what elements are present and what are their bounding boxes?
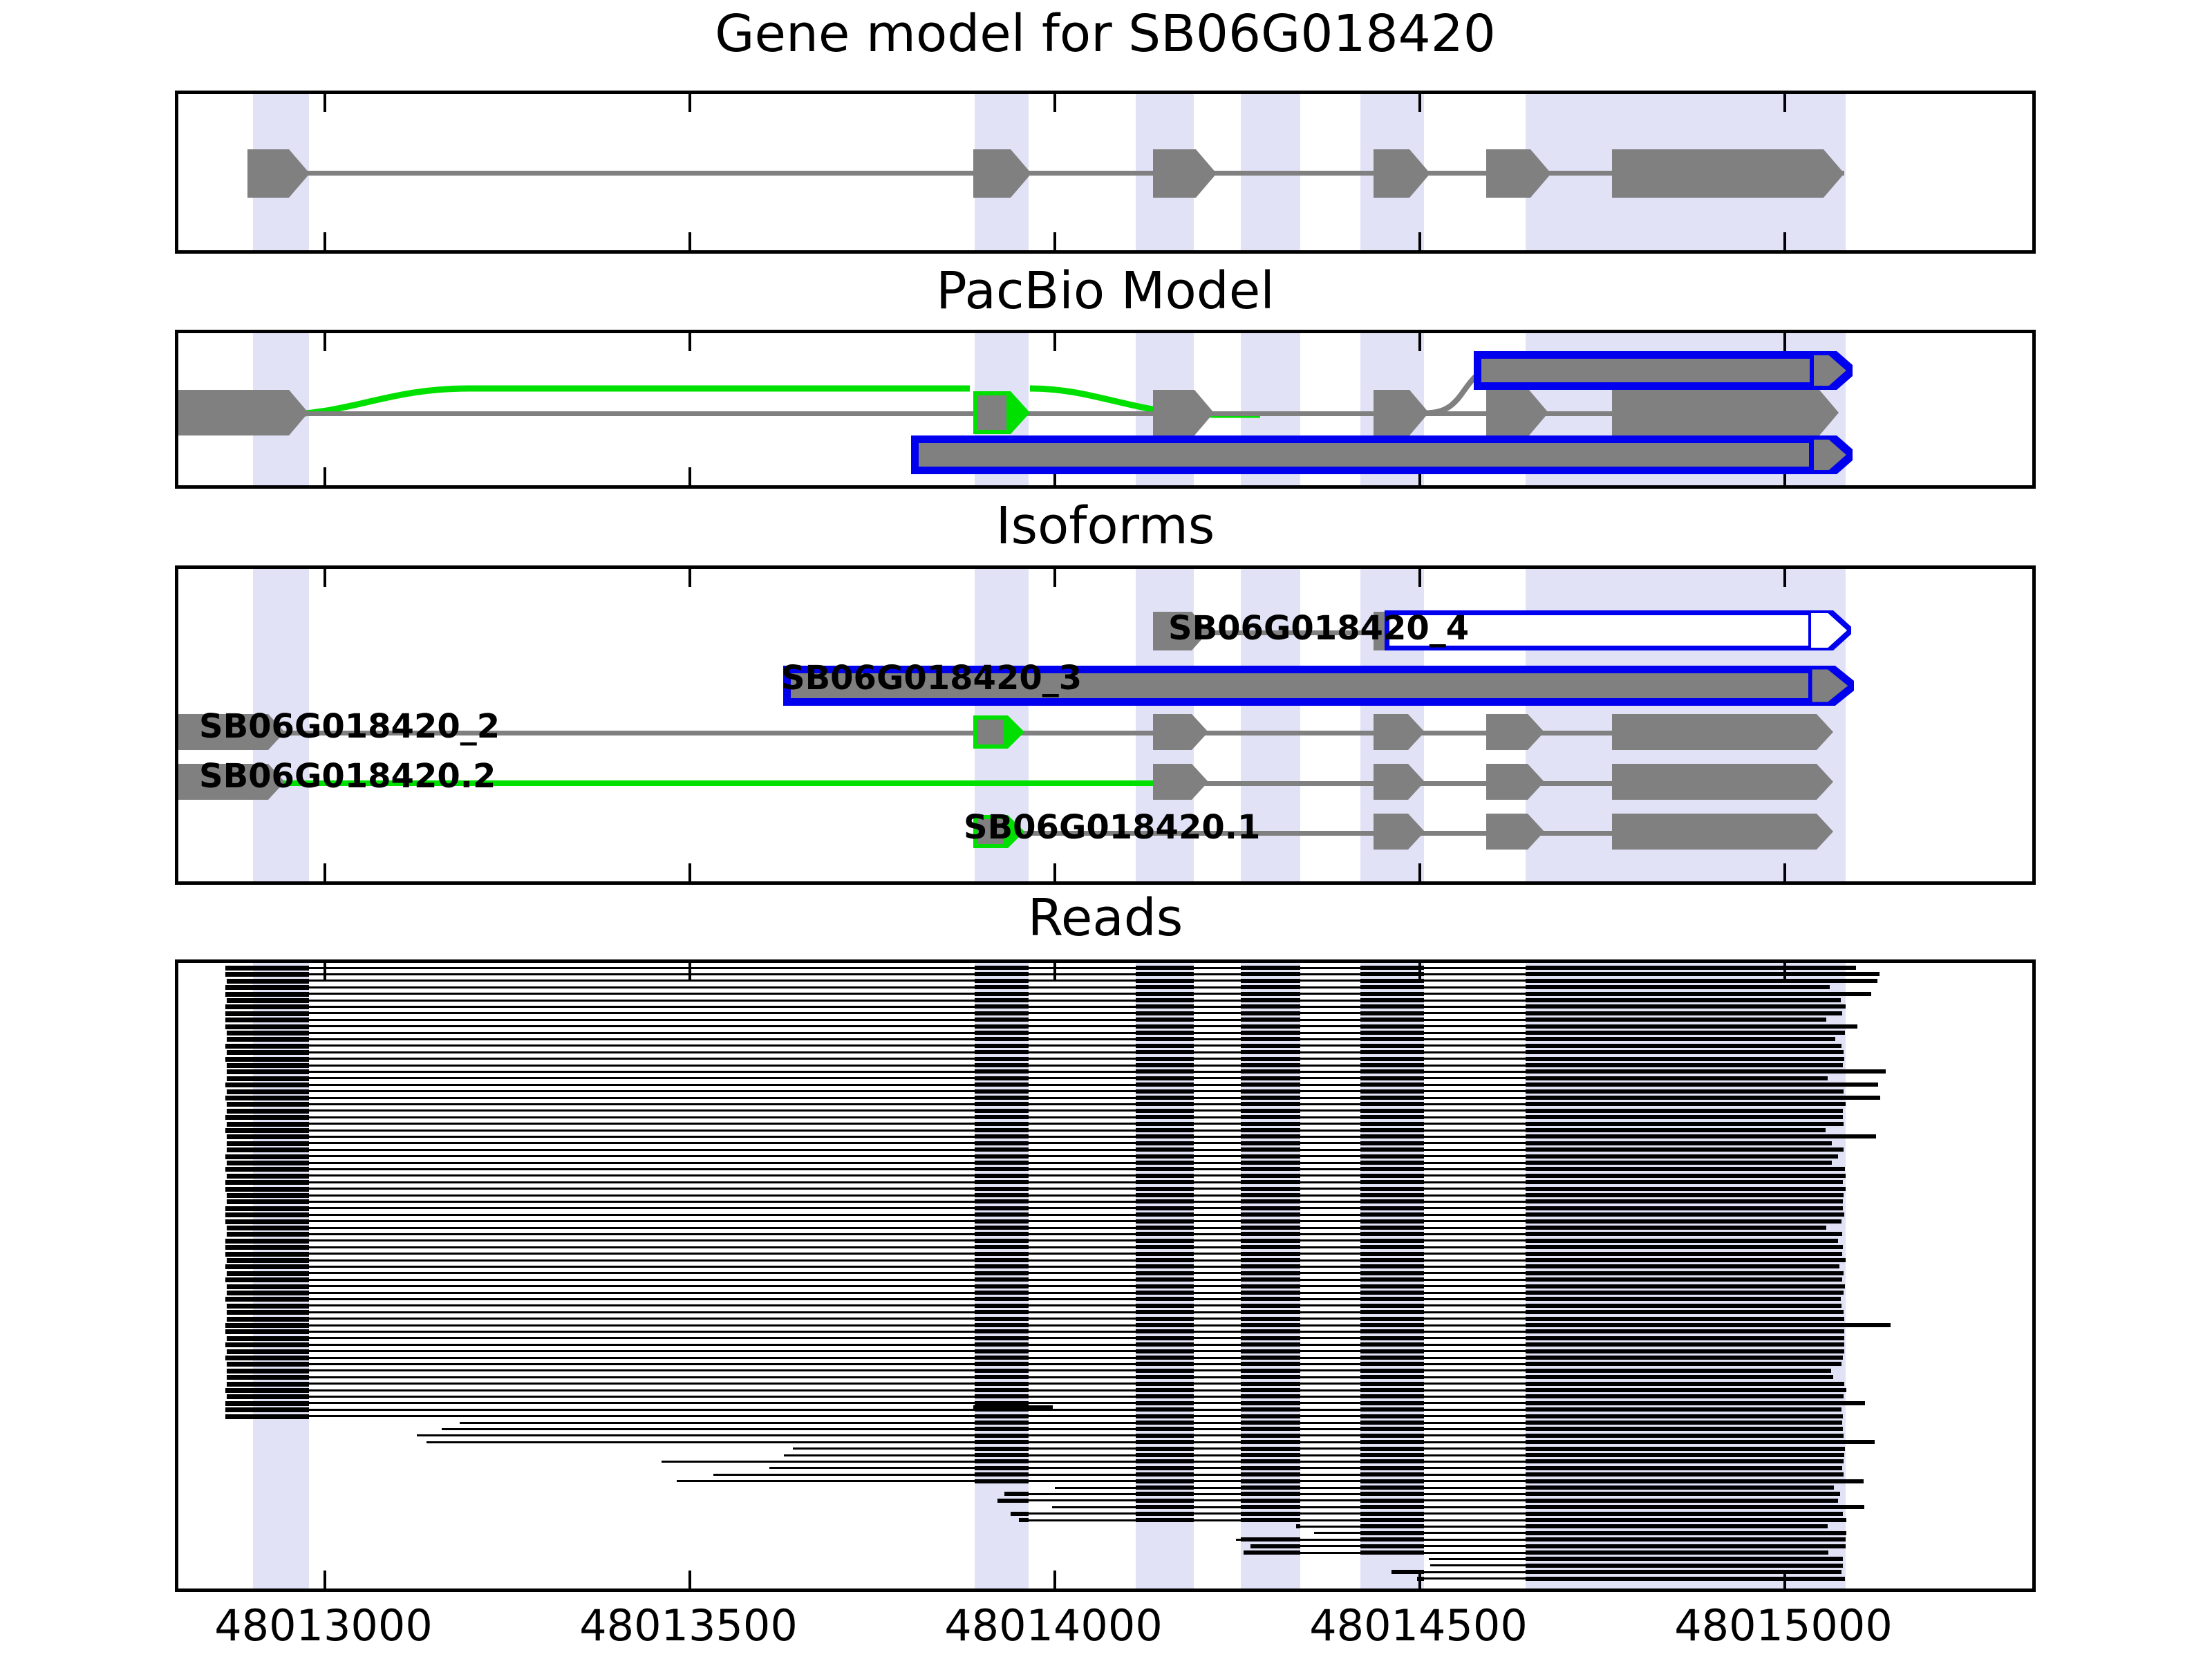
read-exon-block [225, 1024, 309, 1029]
read-exon-block [227, 1050, 309, 1055]
read-exon-block [225, 1388, 309, 1393]
read-exon-block [227, 1317, 309, 1322]
exon-block [1486, 149, 1530, 198]
read-exon-block [975, 1323, 1029, 1327]
read-exon-block [1360, 1161, 1424, 1165]
read-exon-block [1241, 1304, 1300, 1308]
axis-tick [688, 863, 691, 881]
read-exon-block [1136, 1239, 1194, 1243]
read-exon-block [1241, 1317, 1300, 1321]
read-exon-block [1526, 1291, 1844, 1295]
read-exon-block [1526, 1310, 1844, 1314]
read-exon-block [225, 985, 309, 990]
read-exon-block [1526, 1226, 1826, 1230]
read-exon-block [227, 1134, 309, 1139]
read-exon-block [1241, 1024, 1300, 1029]
read-exon-block [975, 1050, 1029, 1054]
pacbio-isoform-bar-partial[interactable] [1474, 351, 1817, 390]
read-exon-block [225, 1264, 309, 1269]
read-exon-block [975, 1317, 1029, 1321]
read-exon-block [1136, 1004, 1194, 1009]
read-exon-block [1136, 1252, 1194, 1256]
read-exon-block [1136, 1089, 1194, 1094]
panel-title-isoforms: Isoforms [175, 496, 2036, 556]
read-exon-block [1526, 1349, 1844, 1353]
read-exon-block [1526, 1524, 1828, 1528]
exon-block-green-outline [973, 391, 1011, 434]
read-exon-block [1526, 1499, 1838, 1503]
read-exon-block [1136, 1141, 1194, 1145]
read-exon-block [1136, 1109, 1194, 1113]
read-exon-block [1526, 1011, 1842, 1015]
read-exon-block [975, 1161, 1029, 1165]
read-exon-block [1136, 1317, 1194, 1321]
read-exon-block [1136, 1479, 1194, 1483]
read-exon-block [1360, 1472, 1424, 1477]
read-exon-block [227, 1304, 309, 1309]
read-exon-block [975, 1024, 1029, 1029]
read-exon-block [1526, 1401, 1865, 1405]
exon-block [1374, 390, 1409, 435]
read-exon-block [975, 1239, 1029, 1243]
read-alignment-stack [178, 963, 2032, 1588]
read-exon-block [975, 1459, 1029, 1463]
read-exon-block [975, 1167, 1029, 1171]
read-exon-block [1360, 1434, 1424, 1438]
read-exon-block [1241, 1472, 1300, 1477]
exon-block [178, 390, 289, 435]
read-exon-block [975, 1375, 1029, 1379]
axis-tick [1053, 569, 1056, 587]
read-exon-block [1360, 1037, 1424, 1041]
read-exon-block [1136, 1167, 1194, 1171]
exon-block [1153, 149, 1196, 198]
isoform-arrow-4 [1808, 610, 1851, 650]
read-exon-block [1241, 1141, 1300, 1145]
read-exon-block [975, 1362, 1029, 1366]
read-exon-block [1526, 1109, 1843, 1113]
read-exon-block [1241, 1277, 1300, 1282]
exon-block [1486, 390, 1529, 435]
exon-block [1153, 764, 1192, 800]
exon-arrow-icon [1192, 714, 1208, 750]
panel-isoforms: SB06G018420_4 SB06G018420_3 SB06G018420_… [175, 565, 2036, 885]
read-exon-block [1360, 1134, 1424, 1138]
read-exon-block [975, 1122, 1029, 1126]
read-exon-block [1526, 1284, 1845, 1288]
read-exon-block [1526, 1531, 1846, 1535]
read-exon-block [1241, 1082, 1300, 1087]
read-exon-block [1136, 1063, 1194, 1067]
axis-tick [1783, 569, 1786, 587]
read-exon-block [1526, 1414, 1843, 1418]
read-exon-block [1241, 1271, 1300, 1275]
read-exon-block [1360, 1479, 1424, 1483]
read-exon-block [1136, 1336, 1194, 1340]
read-exon-block [975, 1284, 1029, 1288]
read-exon-block [1526, 1187, 1846, 1191]
read-exon-block [1360, 1271, 1424, 1275]
exon-arrow-icon [1192, 764, 1208, 800]
read-exon-block [1241, 1004, 1300, 1009]
read-exon-block [975, 1382, 1029, 1386]
read-exon-block [1241, 1401, 1300, 1405]
exon-arrow-icon [289, 149, 310, 198]
read-exon-block [225, 1128, 309, 1133]
read-exon-block [1526, 1317, 1844, 1321]
read-exon-block [225, 1057, 309, 1062]
read-exon-block [225, 1356, 309, 1360]
read-exon-block [1241, 1459, 1300, 1463]
read-exon-block [975, 1453, 1029, 1457]
read-exon-block [1136, 1485, 1194, 1490]
exon-block [1612, 764, 1817, 800]
read-exon-block [975, 1472, 1029, 1477]
read-exon-block [1136, 1258, 1194, 1262]
read-exon-block [1526, 1518, 1846, 1522]
read-exon-block [1241, 1212, 1300, 1217]
read-exon-block [1526, 1069, 1886, 1074]
read-exon-block [1244, 1550, 1300, 1555]
pacbio-isoform-arrow-partial [1810, 351, 1853, 390]
read-exon-block [975, 1271, 1029, 1275]
read-exon-block [1136, 1069, 1194, 1074]
read-exon-block [1526, 1193, 1844, 1197]
read-exon-block [1241, 1297, 1300, 1301]
read-exon-block [225, 1180, 309, 1185]
read-exon-block [1526, 1505, 1864, 1509]
read-exon-block [1526, 1375, 1833, 1379]
read-exon-block [1526, 1018, 1826, 1022]
axis-tick [324, 863, 326, 881]
read-exon-block [975, 1264, 1029, 1268]
read-exon-block [975, 1037, 1029, 1041]
read-exon-block [1360, 966, 1424, 970]
read-exon-block [1360, 1323, 1424, 1327]
exon-block [1374, 149, 1409, 198]
exon-arrow-icon [1408, 814, 1425, 850]
read-exon-block [1526, 1440, 1875, 1444]
read-exon-block [225, 1342, 309, 1347]
read-exon-block [1526, 1102, 1846, 1106]
read-exon-block [1136, 1044, 1194, 1048]
read-exon-block [1136, 1342, 1194, 1347]
axis-tick [1053, 232, 1056, 250]
read-exon-block [1417, 1577, 1424, 1581]
read-exon-block [1360, 1082, 1424, 1087]
read-exon-block [1360, 1440, 1424, 1444]
read-exon-block [1136, 1011, 1194, 1015]
read-exon-block [225, 1206, 309, 1211]
exon-block [1486, 814, 1528, 850]
read-exon-block [227, 1375, 309, 1380]
read-exon-block [1360, 1407, 1424, 1412]
read-exon-block [1011, 1512, 1029, 1516]
read-exon-block [1241, 1069, 1300, 1074]
read-exon-block [1360, 1512, 1424, 1516]
read-exon-block [1136, 1440, 1194, 1444]
read-exon-block [1241, 1492, 1300, 1496]
read-exon-block [1360, 1232, 1424, 1236]
read-exon-block [975, 1310, 1029, 1314]
read-exon-block [225, 1407, 309, 1412]
exon-arrow-icon [1196, 149, 1217, 198]
read-exon-block [975, 1206, 1029, 1210]
read-exon-block [1136, 1284, 1194, 1288]
read-exon-block [975, 1479, 1029, 1483]
read-exon-block [975, 1219, 1029, 1224]
read-exon-block [1241, 1154, 1300, 1159]
read-exon-block [225, 1167, 309, 1172]
read-exon-block [1241, 1258, 1300, 1262]
read-exon-block [1136, 1199, 1194, 1203]
read-exon-block [225, 972, 309, 977]
read-exon-block [1241, 1284, 1300, 1288]
read-exon-block [1360, 1466, 1424, 1470]
read-exon-block [1136, 1362, 1194, 1366]
read-exon-block [1526, 1232, 1842, 1236]
read-exon-block [1360, 1096, 1424, 1100]
intron-line [247, 171, 1844, 176]
read-exon-block [975, 1447, 1029, 1451]
read-exon-block [1241, 966, 1300, 970]
read-exon-block [227, 1284, 309, 1289]
read-exon-block [1360, 1447, 1424, 1451]
isoform-arrow-3 [1808, 666, 1854, 706]
read-exon-block [975, 1096, 1029, 1100]
read-exon-block [227, 1102, 309, 1107]
read-exon-block [1360, 1193, 1424, 1197]
read-exon-block [975, 1018, 1029, 1022]
read-exon-block [1360, 1069, 1424, 1074]
read-exon-block [1526, 1472, 1844, 1477]
read-exon-block [227, 1141, 309, 1146]
read-exon-block [227, 998, 309, 1003]
read-exon-block [1136, 1161, 1194, 1165]
exon-block [1486, 764, 1528, 800]
read-exon-block [1526, 1154, 1838, 1159]
read-exon-block [1526, 1004, 1846, 1009]
axis-tick [1783, 863, 1786, 881]
exon-arrow-icon [289, 390, 308, 435]
read-exon-block [1136, 1518, 1194, 1522]
read-exon-block [1526, 1076, 1828, 1080]
read-exon-block [1360, 1388, 1424, 1392]
read-exon-block [1136, 1277, 1194, 1282]
read-exon-block [975, 1174, 1029, 1178]
read-exon-block [1526, 1323, 1891, 1327]
read-exon-block [227, 1199, 309, 1204]
read-exon-block [225, 1323, 309, 1328]
read-exon-block [975, 979, 1029, 983]
read-exon-block [1136, 1492, 1194, 1496]
exon-block [1374, 764, 1408, 800]
read-exon-block [1136, 1037, 1194, 1041]
read-exon-block [975, 1414, 1029, 1418]
read-exon-block [1241, 1479, 1300, 1483]
read-exon-block [1136, 1369, 1194, 1373]
read-exon-block [975, 1258, 1029, 1262]
read-exon-block [225, 1115, 309, 1120]
read-exon-block [1136, 1349, 1194, 1353]
read-exon-block [1241, 1323, 1300, 1327]
read-exon-block [975, 1063, 1029, 1067]
axis-tick [1783, 94, 1786, 112]
read-exon-block [975, 966, 1029, 970]
read-exon-block [1136, 1304, 1194, 1308]
read-exon-block [1241, 1264, 1300, 1268]
exon-arrow-icon [1409, 149, 1430, 198]
read-exon-block [1526, 1082, 1878, 1087]
read-exon-block [227, 1122, 309, 1127]
read-exon-block [1136, 998, 1194, 1002]
read-exon-block [1136, 1212, 1194, 1217]
read-exon-block [1241, 1115, 1300, 1119]
read-exon-block [1360, 1317, 1424, 1321]
exon-block [1374, 814, 1408, 850]
read-exon-block [1241, 1336, 1300, 1340]
axis-tick [688, 569, 691, 587]
read-exon-block [1241, 1375, 1300, 1379]
read-exon-block [1241, 1232, 1300, 1236]
read-exon-block [227, 1063, 309, 1068]
exon-arrow-icon [1819, 390, 1839, 435]
read-exon-block [1136, 1512, 1194, 1516]
read-exon-block [1526, 1147, 1844, 1152]
read-exon-block [1136, 1226, 1194, 1230]
axis-tick [324, 232, 326, 250]
read-exon-block [1241, 1466, 1300, 1470]
read-exon-block [1526, 1564, 1843, 1568]
read-exon-block [227, 1271, 309, 1276]
read-exon-block [1241, 1057, 1300, 1061]
read-exon-block [1526, 1447, 1845, 1451]
read-exon-block [225, 1212, 309, 1217]
read-exon-block [1526, 1096, 1880, 1100]
read-exon-block [1241, 1096, 1300, 1100]
read-exon-block [1526, 1466, 1842, 1470]
exon-arrow-icon [1817, 764, 1833, 800]
exon-block [1612, 714, 1817, 750]
read-exon-block [1526, 1089, 1844, 1094]
read-exon-block [1360, 1154, 1424, 1159]
read-exon-block [1526, 1219, 1841, 1224]
read-exon-block [1360, 1382, 1424, 1386]
axis-tick [324, 569, 326, 587]
read-exon-block [1526, 1167, 1845, 1171]
read-exon-block [1136, 1434, 1194, 1438]
read-exon-block [1241, 1447, 1300, 1451]
read-exon-block [1526, 1271, 1844, 1275]
read-exon-block [1241, 1219, 1300, 1224]
read-exon-block [975, 1102, 1029, 1106]
read-exon-block [1360, 985, 1424, 989]
axis-tick [324, 94, 326, 112]
read-exon-block [1136, 1206, 1194, 1210]
read-exon-block [1526, 966, 1856, 970]
read-exon-block [1360, 1024, 1424, 1029]
read-exon-block [1526, 1044, 1841, 1048]
read-exon-block [1526, 1264, 1839, 1268]
read-exon-block [975, 1141, 1029, 1145]
read-exon-block [1526, 1115, 1843, 1119]
read-exon-block [227, 1109, 309, 1114]
read-exon-block [1241, 1512, 1300, 1516]
read-exon-block [1136, 1291, 1194, 1295]
read-exon-block [1136, 1031, 1194, 1035]
read-exon-block [225, 1277, 309, 1282]
read-exon-block [1360, 1505, 1424, 1509]
read-exon-block [1526, 1427, 1843, 1431]
read-exon-block [1526, 1050, 1844, 1054]
read-exon-block [975, 1109, 1029, 1113]
read-exon-block [1241, 1199, 1300, 1203]
read-exon-block [1360, 1226, 1424, 1230]
pacbio-isoform-bar-full[interactable] [911, 435, 1817, 474]
axis-tick [688, 94, 691, 112]
read-exon-block [1136, 1459, 1194, 1463]
read-exon-block [1360, 1459, 1424, 1463]
read-exon-block [1360, 1063, 1424, 1067]
read-exon-block [1360, 1180, 1424, 1184]
read-exon-block [1136, 972, 1194, 976]
read-exon-block [975, 972, 1029, 976]
read-exon-block [975, 1115, 1029, 1119]
read-exon-block [1241, 1485, 1300, 1490]
read-exon-block [1360, 1057, 1424, 1061]
read-exon-block [1241, 1440, 1300, 1444]
read-exon-block [1241, 1356, 1300, 1360]
read-exon-block [1019, 1518, 1029, 1522]
read-exon-block [1360, 1031, 1424, 1035]
read-exon-block [1136, 1115, 1194, 1119]
read-exon-block [1360, 1485, 1424, 1490]
read-exon-block [1136, 1264, 1194, 1268]
read-exon-block [1136, 979, 1194, 983]
read-exon-block [1360, 1329, 1424, 1333]
read-exon-block [1360, 1089, 1424, 1094]
read-exon-block [1241, 1291, 1300, 1295]
read-exon-block [1360, 1401, 1424, 1405]
read-exon-block [1136, 1394, 1194, 1398]
read-exon-block [1136, 1102, 1194, 1106]
read-exon-block [1241, 1388, 1300, 1392]
read-exon-block [1526, 972, 1880, 976]
read-exon-block [975, 985, 1029, 989]
read-exon-block [1526, 1277, 1842, 1282]
read-exon-block [975, 1044, 1029, 1048]
read-exon-block [1241, 985, 1300, 989]
read-exon-block [1360, 1245, 1424, 1249]
axis-tick [1418, 232, 1421, 250]
read-exon-block [1136, 1472, 1194, 1477]
read-exon-block [1360, 972, 1424, 976]
read-exon-block [975, 1427, 1029, 1431]
read-exon-block [1241, 1018, 1300, 1022]
read-exon-block [1136, 1219, 1194, 1224]
panel-pacbio-model [175, 330, 2036, 489]
read-exon-block [975, 1291, 1029, 1295]
read-exon-block [1360, 1076, 1424, 1080]
axis-tick [688, 232, 691, 250]
read-exon-block [975, 992, 1029, 996]
exon-arrow-icon [1824, 149, 1844, 198]
read-exon-block [1241, 1109, 1300, 1113]
read-exon-block [1136, 1466, 1194, 1470]
read-exon-block [1526, 1180, 1843, 1184]
read-exon-block [1526, 998, 1841, 1002]
read-exon-block [1360, 1342, 1424, 1347]
